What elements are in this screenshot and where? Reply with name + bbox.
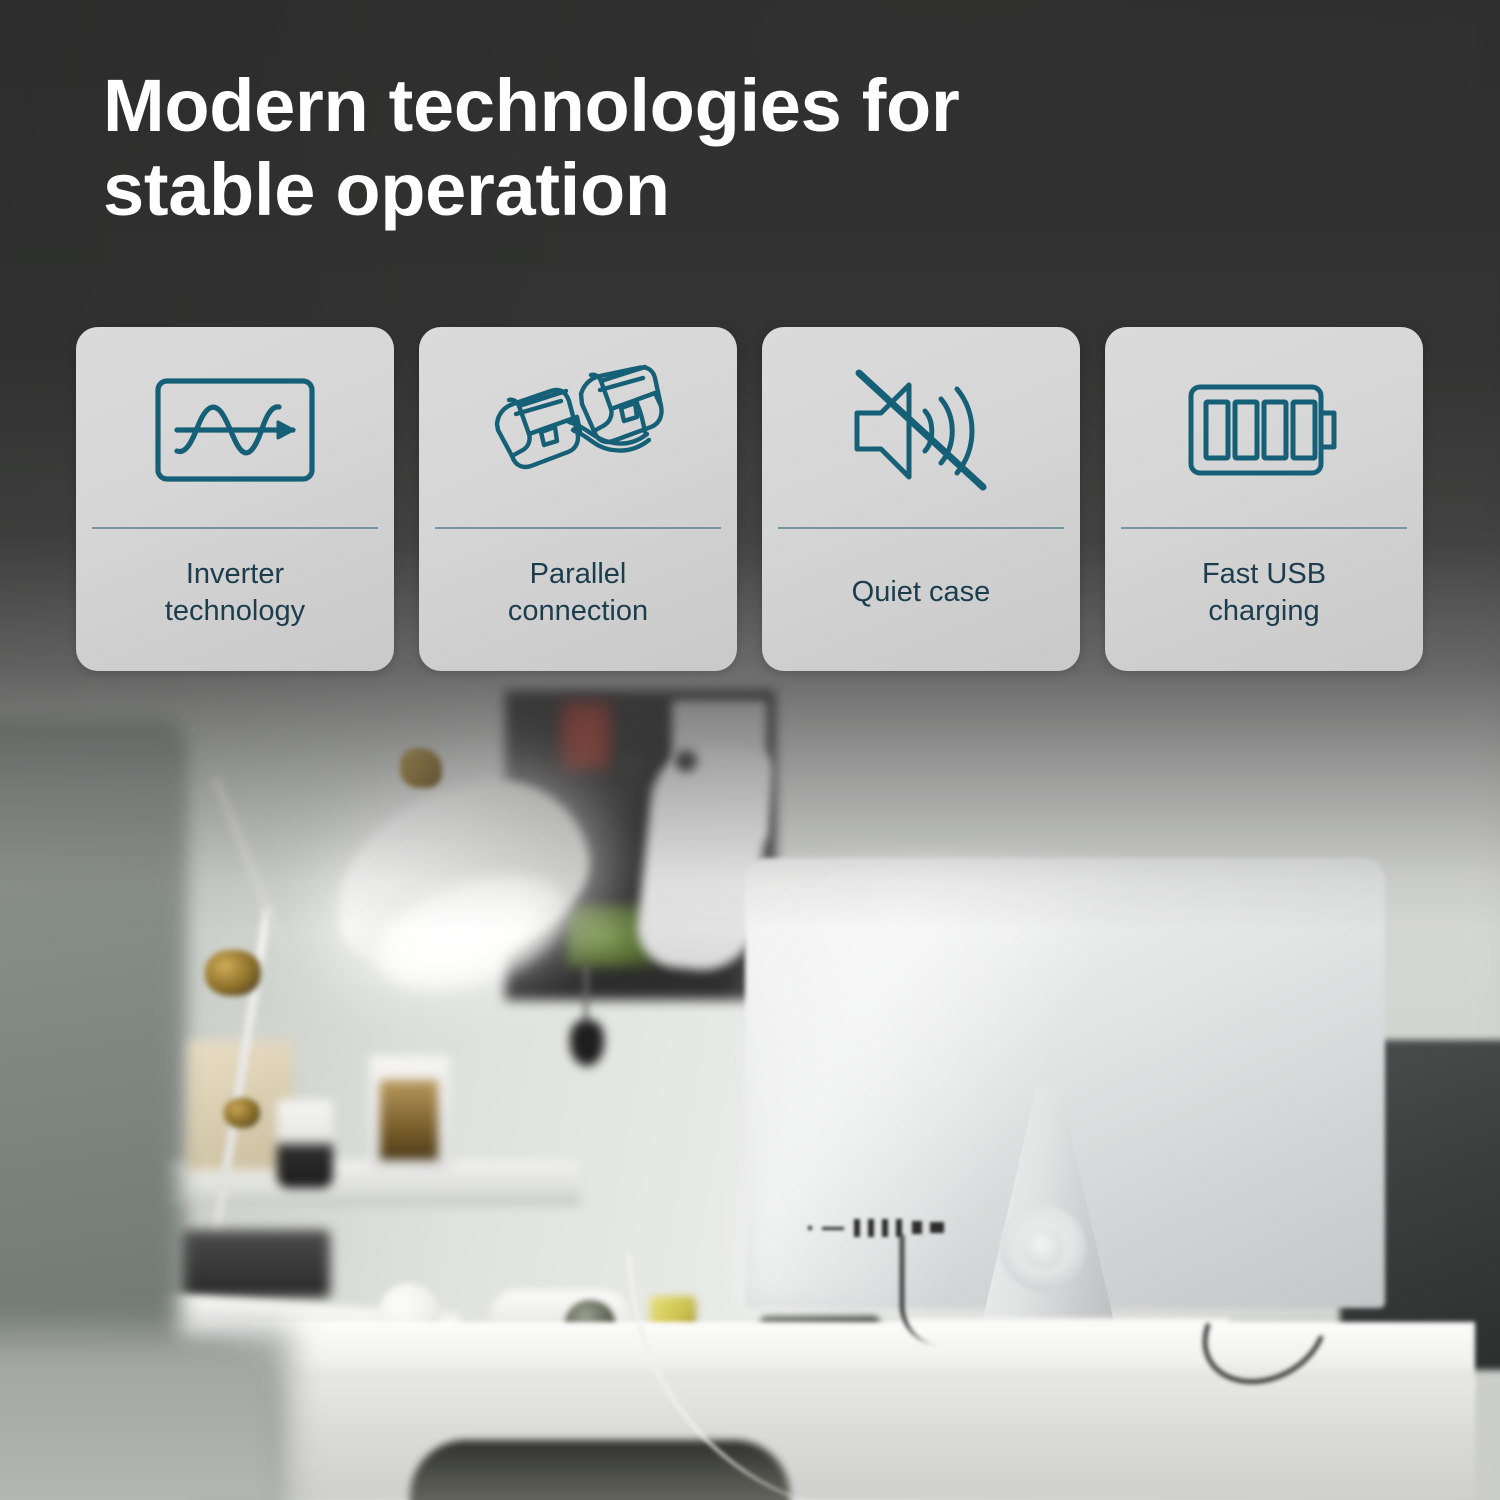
- feature-card-fast-usb-charging[interactable]: Fast USB charging: [1105, 327, 1423, 671]
- battery-full-icon: [1105, 327, 1423, 527]
- feature-card-list: Inverter technology: [76, 327, 1424, 671]
- feature-card-label: Fast USB charging: [1105, 529, 1423, 671]
- inverter-sine-wave-icon: [76, 327, 394, 527]
- card-divider: [435, 527, 721, 529]
- card-divider: [778, 527, 1064, 529]
- feature-card-label: Quiet case: [762, 529, 1080, 671]
- content-layer: Modern technologies for stable operation…: [0, 0, 1500, 1500]
- feature-card-parallel-connection[interactable]: Parallel connection: [419, 327, 737, 671]
- card-divider: [92, 527, 378, 529]
- page-title: Modern technologies for stable operation: [103, 64, 1243, 231]
- feature-card-quiet-case[interactable]: Quiet case: [762, 327, 1080, 671]
- parallel-generators-icon: [419, 327, 737, 527]
- promo-banner: Modern technologies for stable operation…: [0, 0, 1500, 1500]
- feature-card-inverter-technology[interactable]: Inverter technology: [76, 327, 394, 671]
- muted-speaker-icon: [762, 327, 1080, 527]
- feature-card-label: Inverter technology: [76, 529, 394, 671]
- feature-card-label: Parallel connection: [419, 529, 737, 671]
- card-divider: [1121, 527, 1407, 529]
